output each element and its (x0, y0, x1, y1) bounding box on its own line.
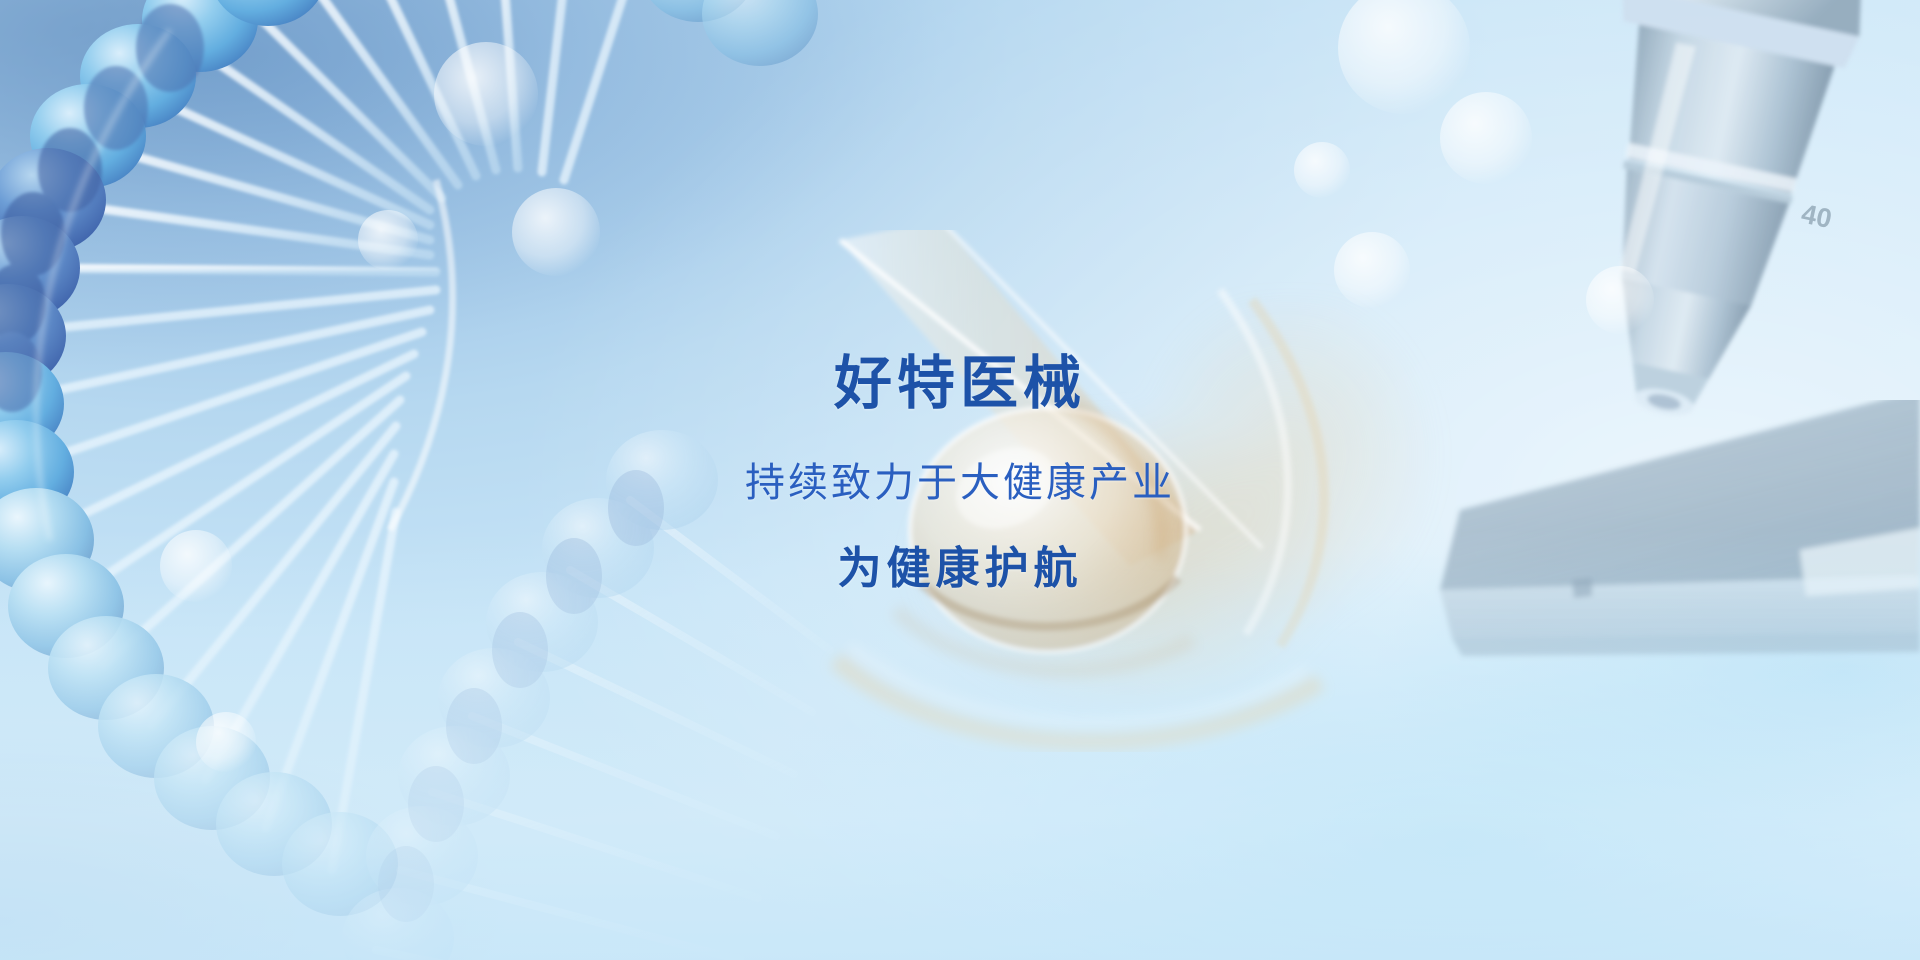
headline-block: 好特医械 持续致力于大健康产业 为健康护航 (0, 0, 1920, 960)
page-subtitle: 持续致力于大健康产业 (745, 463, 1175, 503)
page-title: 好特医械 (834, 355, 1086, 413)
page-slogan: 为健康护航 (838, 547, 1083, 591)
hero-banner: 40 好特医械 持续致力于大健康 (0, 0, 1920, 960)
